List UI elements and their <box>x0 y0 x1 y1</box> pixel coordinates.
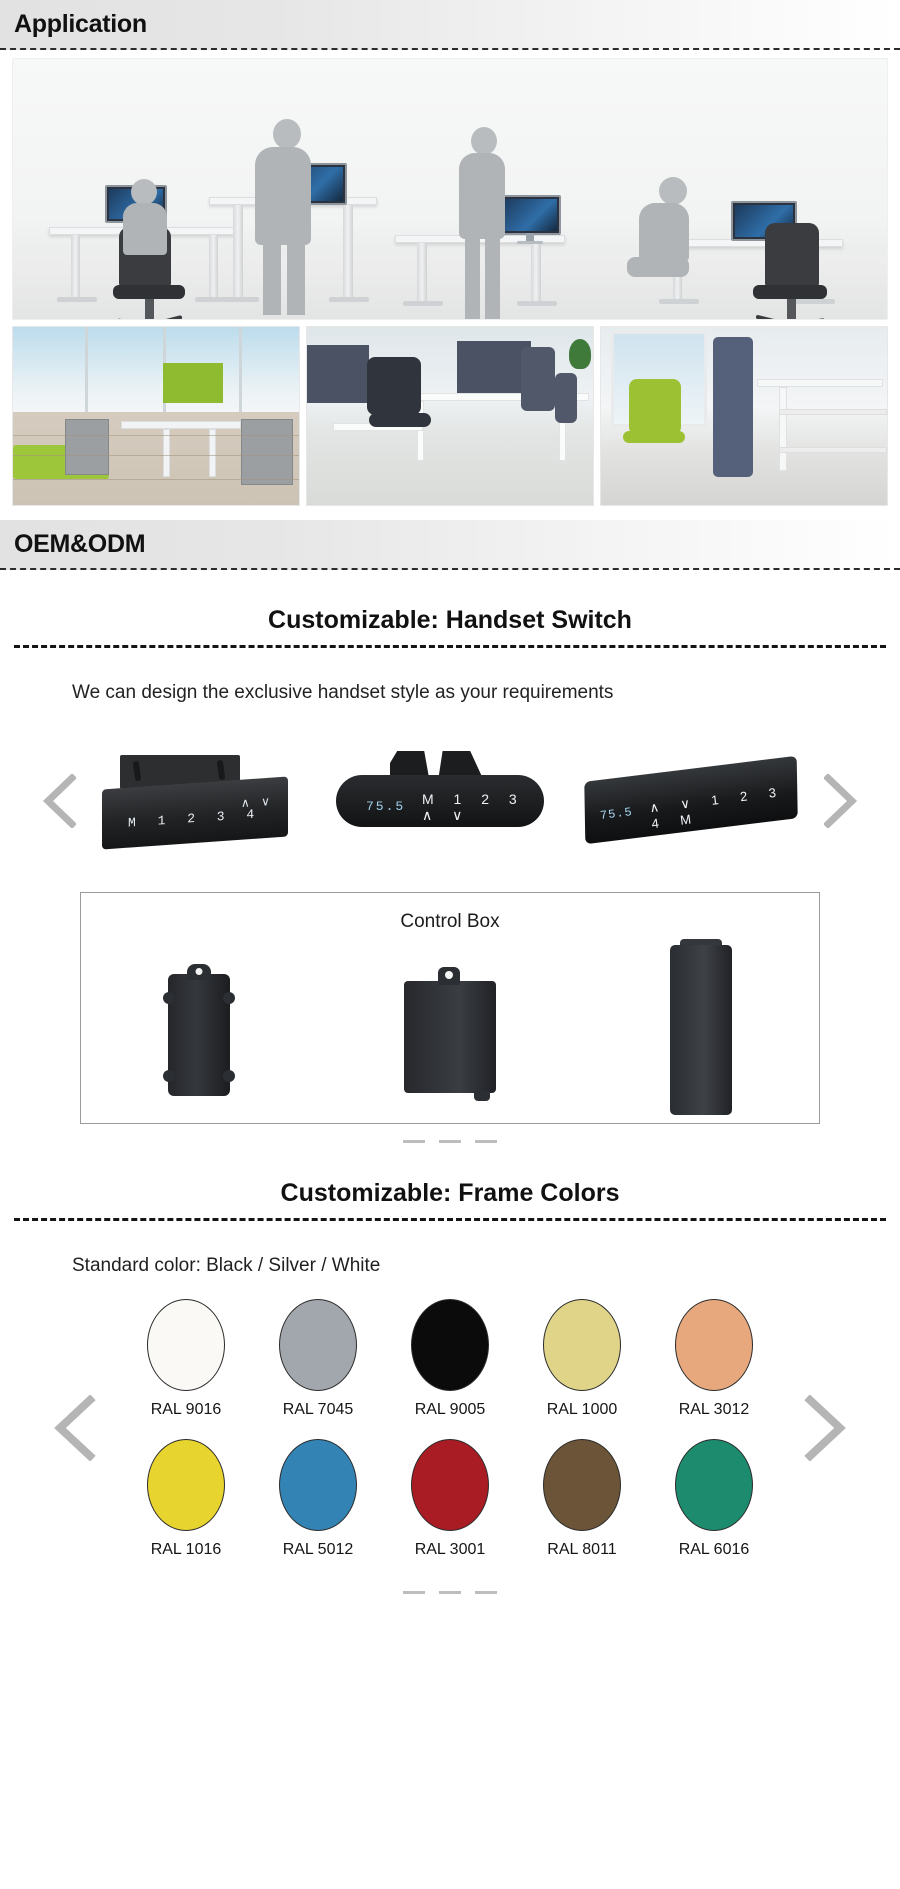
chevron-right-icon[interactable] <box>804 1395 848 1461</box>
product-detail-page: Application <box>0 0 900 1612</box>
handset-1-updown: ∧ ∨ <box>241 794 274 810</box>
frame-colors-pagination <box>0 1591 900 1594</box>
swatch-ral-1000[interactable]: RAL 1000 <box>516 1299 648 1419</box>
section-title-application: Application <box>0 10 147 39</box>
section-title-oem-odm: OEM&ODM <box>0 530 145 559</box>
swatch-color <box>543 1299 621 1391</box>
swatch-ral-5012[interactable]: RAL 5012 <box>252 1439 384 1559</box>
swatch-color <box>543 1439 621 1531</box>
pagination-dash-2[interactable] <box>439 1591 461 1594</box>
application-gallery <box>0 50 900 506</box>
swatch-label: RAL 3001 <box>384 1541 516 1559</box>
person-standing-man <box>249 119 319 309</box>
control-box-wide[interactable] <box>404 967 496 1093</box>
swatch-label: RAL 9016 <box>120 1401 252 1419</box>
chevron-left-icon[interactable] <box>42 774 76 828</box>
control-box-items <box>81 945 819 1115</box>
swatch-ral-7045[interactable]: RAL 7045 <box>252 1299 384 1419</box>
thumbnail-standing-user[interactable] <box>600 326 888 506</box>
swatch-color <box>675 1439 753 1531</box>
green-task-chair <box>629 379 681 435</box>
handset-heading: Customizable: Handset Switch <box>0 570 900 645</box>
swatch-label: RAL 1016 <box>120 1541 252 1559</box>
control-box-panel: Control Box <box>80 892 820 1124</box>
pagination-dash-3[interactable] <box>475 1140 497 1143</box>
swatch-ral-8011[interactable]: RAL 8011 <box>516 1439 648 1559</box>
pagination-dash-1[interactable] <box>403 1140 425 1143</box>
person-seated-left <box>117 179 177 269</box>
swatch-ral-3012[interactable]: RAL 3012 <box>648 1299 780 1419</box>
swatch-ral-9016[interactable]: RAL 9016 <box>120 1299 252 1419</box>
frame-color-swatches: RAL 9016 RAL 7045 RAL 9005 RAL 1000 RAL … <box>120 1299 780 1559</box>
swatch-ral-9005[interactable]: RAL 9005 <box>384 1299 516 1419</box>
frame-colors-heading: Customizable: Frame Colors <box>0 1143 900 1218</box>
swatch-label: RAL 9005 <box>384 1401 516 1419</box>
control-box-title: Control Box <box>81 893 819 933</box>
swatch-ral-3001[interactable]: RAL 3001 <box>384 1439 516 1559</box>
swatch-label: RAL 5012 <box>252 1541 384 1559</box>
handset-2-display: 75.5 <box>366 799 405 814</box>
swatch-label: RAL 3012 <box>648 1401 780 1419</box>
frame-colors-carousel: RAL 9016 RAL 7045 RAL 9005 RAL 1000 RAL … <box>0 1299 900 1565</box>
handset-items: M 1 2 3 4 ∧ ∨ 75.5 M 1 2 3 ∧ ∨ 75.5 ∧ ∨ … <box>96 726 804 876</box>
handset-carousel: M 1 2 3 4 ∧ ∨ 75.5 M 1 2 3 ∧ ∨ 75.5 ∧ ∨ … <box>0 726 900 876</box>
pagination-dash-3[interactable] <box>475 1591 497 1594</box>
person-standing-woman <box>449 127 513 320</box>
handset-2-keys: M 1 2 3 ∧ ∨ <box>422 791 550 824</box>
swatch-label: RAL 1000 <box>516 1401 648 1419</box>
swatch-color <box>147 1299 225 1391</box>
handset-switch-2[interactable]: 75.5 M 1 2 3 ∧ ∨ <box>330 751 550 851</box>
swatch-color <box>147 1439 225 1531</box>
person-seated-right <box>625 177 701 307</box>
application-thumbnails <box>12 326 888 506</box>
swatch-color <box>279 1439 357 1531</box>
standard-color-text: Standard color: Black / Silver / White <box>0 1221 900 1277</box>
swatch-color <box>675 1299 753 1391</box>
handset-switch-3[interactable]: 75.5 ∧ ∨ 1 2 3 4 M <box>584 751 804 851</box>
thumbnail-office-window[interactable] <box>12 326 300 506</box>
section-header-oem-odm: OEM&ODM <box>0 520 900 570</box>
chevron-right-icon[interactable] <box>824 774 858 828</box>
swatch-color <box>411 1439 489 1531</box>
section-header-application: Application <box>0 0 900 50</box>
swatch-ral-1016[interactable]: RAL 1016 <box>120 1439 252 1559</box>
standing-person <box>713 337 753 477</box>
pagination-dash-2[interactable] <box>439 1140 461 1143</box>
swatch-label: RAL 6016 <box>648 1541 780 1559</box>
control-box-round[interactable] <box>168 964 230 1096</box>
oem-odm-content: Customizable: Handset Switch We can desi… <box>0 570 900 1612</box>
green-privacy-panel <box>163 363 223 403</box>
swatch-label: RAL 8011 <box>516 1541 648 1559</box>
window-glazing <box>13 327 299 412</box>
swatch-label: RAL 7045 <box>252 1401 384 1419</box>
hero-scene <box>13 59 887 319</box>
swatch-ral-6016[interactable]: RAL 6016 <box>648 1439 780 1559</box>
handset-switch-1[interactable]: M 1 2 3 4 ∧ ∨ <box>96 751 296 851</box>
handset-lead-text: We can design the exclusive handset styl… <box>0 648 900 704</box>
control-box-tall[interactable] <box>670 945 732 1115</box>
swatch-color <box>411 1299 489 1391</box>
chevron-left-icon[interactable] <box>52 1395 96 1461</box>
hero-illustration <box>12 58 888 320</box>
task-chair <box>367 357 421 415</box>
pagination-dash-1[interactable] <box>403 1591 425 1594</box>
thumbnail-open-plan[interactable] <box>306 326 594 506</box>
office-chair-right <box>731 223 841 320</box>
swatch-color <box>279 1299 357 1391</box>
